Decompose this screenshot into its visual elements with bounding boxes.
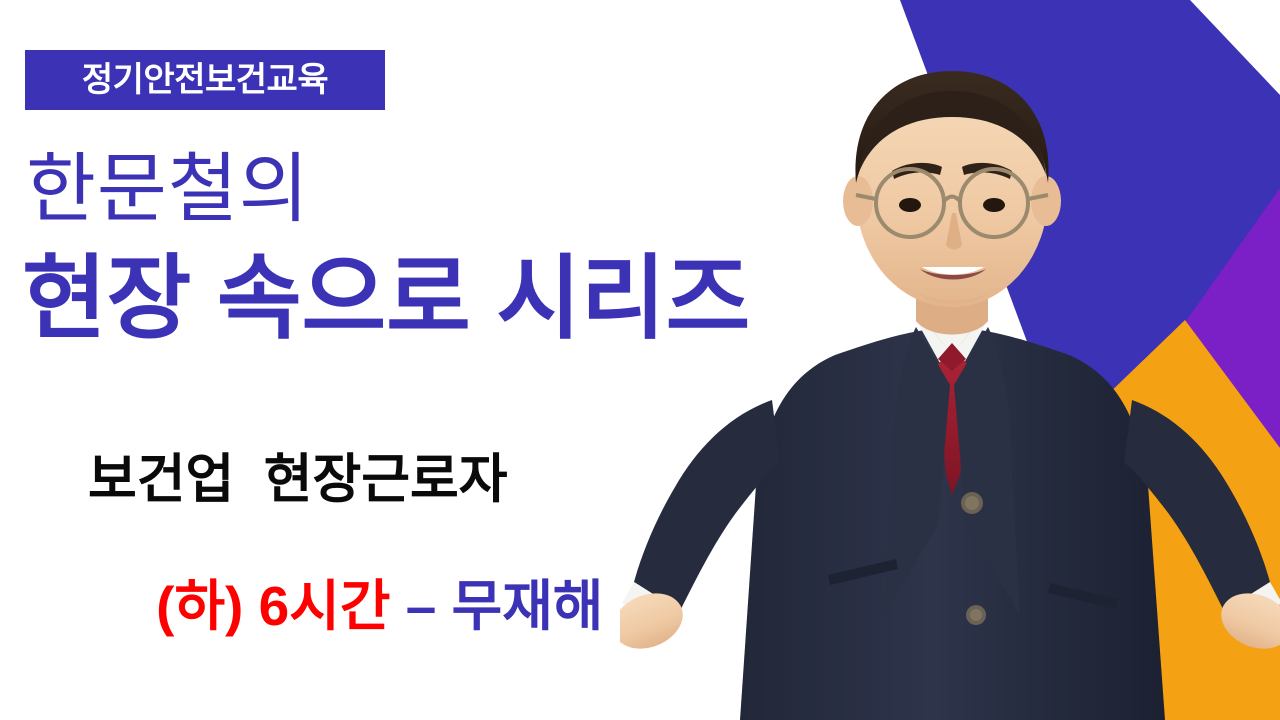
course-safety-tag: – 무재해 bbox=[406, 575, 604, 637]
presenter-suit bbox=[620, 305, 1280, 720]
presenter-photo bbox=[620, 55, 1280, 720]
course-duration-line: (하) 6시간 – 무재해 bbox=[95, 520, 603, 693]
course-duration-text: (하) 6시간 bbox=[156, 575, 406, 637]
course-type-badge-label: 정기안전보건교육 bbox=[82, 63, 328, 97]
series-main-title: 현장 속으로 시리즈 bbox=[22, 253, 750, 345]
series-host-title: 한문철의 bbox=[26, 152, 310, 228]
thumbnail-canvas: 정기안전보건교육 한문철의 현장 속으로 시리즈 보건업 현장근로자 (하) 6… bbox=[0, 0, 1280, 720]
presenter-head bbox=[843, 71, 1061, 307]
course-audience-line: 보건업 현장근로자 bbox=[88, 452, 508, 508]
course-type-badge: 정기안전보건교육 bbox=[25, 50, 385, 110]
